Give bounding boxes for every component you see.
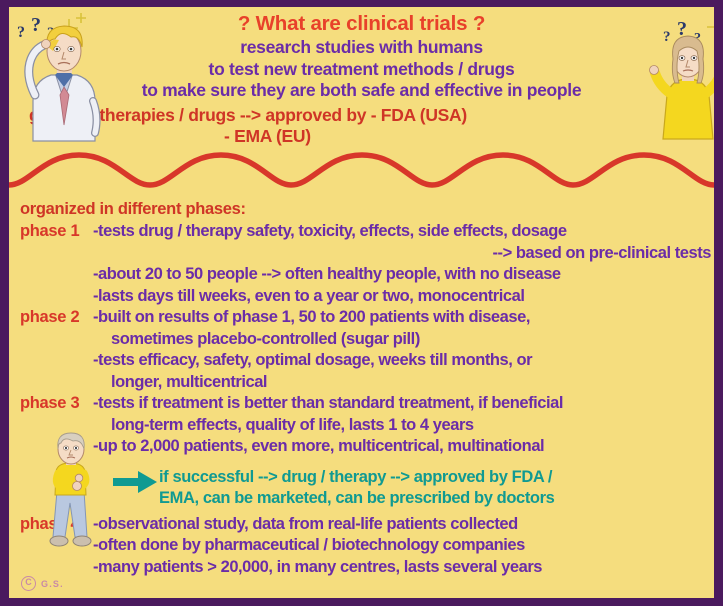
phase-4-line-2: -often done by pharmaceutical / biotechn… [93,535,714,557]
phase-2-line-3: -tests efficacy, safety, optimal dosage,… [93,350,714,372]
phase-lines-1: -tests drug / therapy safety, toxicity, … [93,221,714,307]
goal-block: goal: --> therapies / drugs --> approved… [9,105,714,147]
phase-label-4: phase 4 [9,514,93,536]
phase-row-2: phase 2 -built on results of phase 1, 50… [9,307,714,393]
phase-4-line-1: -observational study, data from real-lif… [93,514,714,536]
phase-2-line-2: sometimes placebo-controlled (sugar pill… [93,329,714,351]
subtitle-line-2: to test new treatment methods / drugs [9,59,714,81]
success-line-1: if successful --> drug / therapy --> app… [159,467,714,489]
poster-canvas: ? What are clinical trials ? research st… [9,7,714,598]
goal-line-1: goal: --> therapies / drugs --> approved… [9,105,714,126]
phases-body: organized in different phases: phase 1 -… [9,197,714,578]
copyright-mark: C G.S. [21,576,64,591]
phase-1-line-1: -tests drug / therapy safety, toxicity, … [93,221,714,243]
subtitle-line-1: research studies with humans [9,37,714,59]
phase-4-line-3: -many patients > 20,000, in many centres… [93,557,714,579]
phase-label-2: phase 2 [9,307,93,329]
phase-2-line-1: -built on results of phase 1, 50 to 200 … [93,307,714,329]
phase-row-4: phase 4 -observational study, data from … [9,514,714,579]
section-heading: organized in different phases: [9,197,714,221]
phase-2-line-4: longer, multicentrical [93,372,714,394]
phase-1-line-2: --> based on pre-clinical tests [93,243,714,265]
poster-frame: ? What are clinical trials ? research st… [0,0,723,606]
red-wave-divider [9,147,714,199]
phase-label-3: phase 3 [9,393,93,415]
subtitle-line-3: to make sure they are both safe and effe… [9,80,714,102]
goal-line-2: - EMA (EU) [9,126,714,147]
copyright-icon: C [21,576,36,591]
phase-3-line-3: -up to 2,000 patients, even more, multic… [93,436,714,458]
page-title: ? What are clinical trials ? [9,11,714,37]
phase-lines-3: -tests if treatment is better than stand… [93,393,714,458]
phase-1-line-4: -lasts days till weeks, even to a year o… [93,286,714,308]
phase-lines-4: -observational study, data from real-lif… [93,514,714,579]
success-callout: if successful --> drug / therapy --> app… [9,467,714,510]
phase-lines-2: -built on results of phase 1, 50 to 200 … [93,307,714,393]
phase-row-3: phase 3 -tests if treatment is better th… [9,393,714,458]
phase-3-line-2: long-term effects, quality of life, last… [93,415,714,437]
success-line-2: EMA, can be marketed, can be prescribed … [159,488,714,510]
phase-3-line-1: -tests if treatment is better than stand… [93,393,714,415]
copyright-initials: G.S. [41,579,64,589]
phase-row-1: phase 1 -tests drug / therapy safety, to… [9,221,714,307]
arrow-right-icon [112,469,158,495]
header-block: ? What are clinical trials ? research st… [9,7,714,102]
phase-1-line-3: -about 20 to 50 people --> often healthy… [93,264,714,286]
phase-label-1: phase 1 [9,221,93,243]
